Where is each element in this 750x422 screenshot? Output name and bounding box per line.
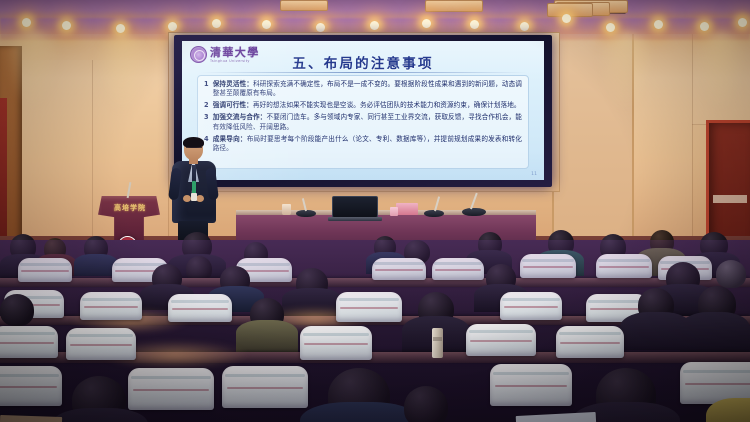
- ceiling-spotlight: [116, 24, 125, 33]
- ceiling-spotlight: [606, 23, 615, 32]
- slide-title-divider: [200, 72, 526, 73]
- speaker-tie: [192, 165, 196, 182]
- auditorium-seat: [80, 292, 142, 320]
- ceiling-spotlight: [520, 22, 529, 31]
- water-cup: [282, 204, 291, 215]
- auditorium-seat: [432, 258, 484, 280]
- laptop: [332, 196, 378, 218]
- ceiling-vent-grille: [280, 0, 328, 11]
- ceiling-spotlight: [168, 22, 177, 31]
- desk-microphone-base: [462, 208, 486, 216]
- audience-shoulders: [300, 402, 420, 422]
- auditorium-seat: [596, 254, 652, 278]
- auditorium-seat: [0, 366, 62, 406]
- auditorium-seat: [556, 326, 624, 358]
- auditorium-seat: [500, 292, 562, 320]
- speaker-right-hand: [196, 195, 204, 202]
- speaker: [170, 138, 218, 242]
- bullet-lead: 保持灵活性：: [213, 80, 253, 88]
- auditorium-seat: [336, 292, 402, 322]
- auditorium-seat: [66, 328, 136, 360]
- auditorium-seat: [300, 326, 372, 360]
- audience-head: [0, 294, 34, 326]
- ceiling-speaker-box: [425, 0, 483, 12]
- desk-microphone-base: [296, 210, 316, 217]
- audience-shoulders: [236, 320, 298, 352]
- ceiling-spotlight: [22, 18, 31, 27]
- auditorium-seat: [372, 258, 426, 280]
- lanyard-badge: [192, 181, 196, 194]
- wall-red-strip: [0, 98, 7, 248]
- ceiling-spotlight: [700, 22, 709, 31]
- bullet-text: 保持灵活性：科研探索充满不确定性，布局不是一成不变的。要根据阶段性成果和遇到的新…: [213, 80, 522, 99]
- ceiling-spotlight: [470, 20, 479, 29]
- wall-light-wash: [92, 34, 152, 114]
- auditorium-seat: [520, 254, 576, 278]
- wall-light-wash: [596, 32, 656, 112]
- auditorium-seat: [490, 364, 572, 406]
- audience-head: [716, 260, 746, 288]
- bullet-number: 3: [204, 113, 209, 132]
- auditorium-seat: [466, 324, 536, 356]
- bullet-text: 加强交流与合作：不要闭门造车。多与领域内专家、同行甚至工业界交流，获取反馈，寻找…: [213, 113, 522, 132]
- bullet-number: 1: [204, 80, 209, 99]
- list-item: 4 成果导向：布局时要思考每个阶段能产出什么（论文、专利、数据库等），并提前规划…: [204, 135, 522, 154]
- bullet-lead: 加强交流与合作：: [213, 113, 267, 121]
- slide-title: 五、布局的注意事项: [182, 52, 544, 72]
- seat-tablet-arm: [0, 415, 62, 422]
- ceiling-spotlight: [654, 20, 663, 29]
- ceiling-spotlight: [212, 19, 221, 28]
- presentation-slide: 清華大學 Tsinghua University 五、布局的注意事项 1 保持灵…: [182, 41, 544, 180]
- podium-label: 高培学院: [104, 203, 156, 213]
- ceiling-spotlight: [562, 14, 571, 23]
- ceiling-spotlight: [422, 19, 431, 28]
- lecture-hall-photo: 清華大學 Tsinghua University 五、布局的注意事项 1 保持灵…: [0, 0, 750, 422]
- wall-light-wash: [690, 32, 750, 112]
- list-item: 1 保持灵活性：科研探索充满不确定性，布局不是一成不变的。要根据阶段性成果和遇到…: [204, 80, 522, 99]
- tissue-box-side: [390, 207, 398, 216]
- bullet-body: 布局时要思考每个阶段能产出什么（论文、专利、数据库等），并提前规划成果的发表和转…: [213, 135, 522, 152]
- auditorium-seat: [222, 366, 308, 408]
- thermos-flask: [432, 328, 443, 358]
- wall-light-wash: [2, 30, 62, 110]
- bullet-lead: 强调可行性：: [213, 101, 253, 109]
- auditorium-seat: [168, 294, 232, 322]
- bullet-number: 2: [204, 101, 209, 110]
- ceiling-spotlight: [316, 23, 325, 32]
- audience-shoulders: [680, 312, 750, 352]
- ceiling-spotlight: [738, 18, 747, 27]
- audience-shoulders: [52, 408, 148, 422]
- ceiling-spotlight: [62, 21, 71, 30]
- auditorium-seat: [0, 326, 58, 358]
- audience-area: [0, 240, 750, 422]
- bullet-body: 科研探索充满不确定性，布局不是一成不变的。要根据阶段性成果和遇到的新问题，动态调…: [213, 80, 522, 97]
- head-table-surface: [236, 210, 536, 215]
- glasses-icon: [186, 147, 202, 152]
- audience-head: [404, 386, 448, 422]
- auditorium-seat: [128, 368, 214, 410]
- speaker-left-hand: [183, 195, 191, 202]
- list-item: 2 强调可行性：再好的想法如果不能实现也是空谈。务必评估团队的技术能力和资源约束…: [204, 101, 522, 110]
- slide-page-number: 11: [531, 172, 537, 177]
- tissue-box: [396, 203, 418, 215]
- bullet-body: 再好的想法如果不能实现也是空谈。务必评估团队的技术能力和资源约束，确保计划落地。: [253, 101, 521, 109]
- slide-bullet-list: 1 保持灵活性：科研探索充满不确定性，布局不是一成不变的。要根据阶段性成果和遇到…: [197, 75, 529, 169]
- auditorium-seat: [18, 258, 72, 282]
- bullet-text: 强调可行性：再好的想法如果不能实现也是空谈。务必评估团队的技术能力和资源约束，确…: [213, 101, 522, 110]
- bullet-text: 成果导向：布局时要思考每个阶段能产出什么（论文、专利、数据库等），并提前规划成果…: [213, 135, 522, 154]
- handout-paper: [516, 412, 597, 422]
- ceiling-spotlight: [370, 21, 379, 30]
- ceiling-spotlight: [262, 20, 271, 29]
- list-item: 3 加强交流与合作：不要闭门造车。多与领域内专家、同行甚至工业界交流，获取反馈，…: [204, 113, 522, 132]
